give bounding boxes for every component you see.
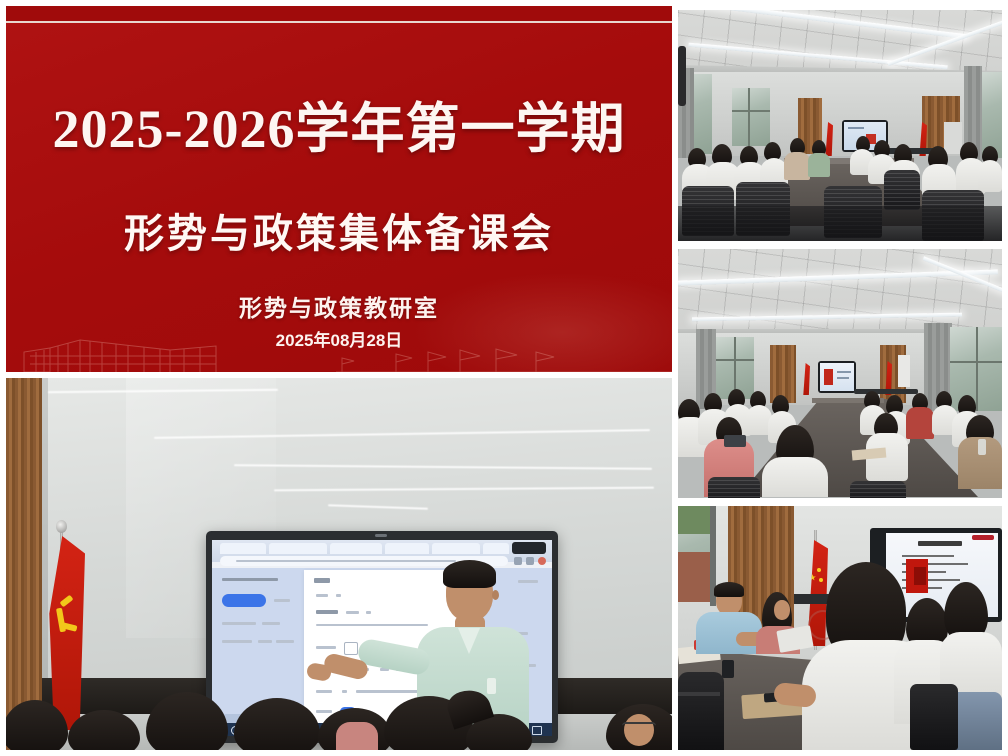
- office-chair: [850, 481, 906, 498]
- photo-conference-room-wide: [678, 10, 1002, 241]
- flag-star: [817, 568, 821, 572]
- wall-rail: [854, 389, 918, 394]
- right-window: [982, 72, 1002, 158]
- nav-text: [262, 622, 280, 625]
- screen-content: [820, 363, 854, 391]
- form-label: [316, 690, 332, 693]
- browser-toolbar-icon[interactable]: [538, 557, 546, 565]
- slide-logo: [972, 535, 994, 540]
- flag-finial: [56, 520, 67, 533]
- nav-primary-button[interactable]: [222, 594, 266, 607]
- photo-collage: 2025-2026学年第一学期 形势与政策集体备课会 形势与政策教研室 2025…: [0, 0, 1008, 756]
- slide-body: 2025-2026学年第一学期 形势与政策集体备课会 形势与政策教研室 2025…: [6, 23, 672, 372]
- browser-tab[interactable]: [220, 543, 266, 554]
- wood-pillar: [6, 378, 42, 750]
- browser-tab[interactable]: [269, 543, 327, 554]
- slide-title-text: [918, 541, 962, 546]
- audience-shoulder: [336, 722, 378, 750]
- phone: [722, 660, 734, 678]
- form-help-text: [316, 624, 428, 626]
- cabinet: [944, 122, 962, 154]
- display-camera: [375, 534, 387, 537]
- slide-bullet-text: [902, 555, 954, 557]
- slide-top-accent-bar: [6, 6, 672, 23]
- browser-toolbar-icon[interactable]: [514, 557, 522, 565]
- left-window: [732, 88, 770, 146]
- attendee-torso: [978, 160, 1002, 192]
- form-checkbox[interactable]: [344, 642, 358, 655]
- flag-star: [819, 578, 823, 582]
- screen-text: [837, 377, 849, 379]
- attendee-torso: [808, 153, 830, 177]
- nav-text: [222, 578, 278, 581]
- wall-notice: [898, 355, 910, 387]
- card-title: [314, 578, 330, 583]
- browser-tab[interactable]: [330, 543, 382, 554]
- form-label: [316, 610, 338, 614]
- presenter-hair: [443, 560, 496, 588]
- conference-room-wide-scene: [678, 10, 1002, 241]
- mic-stand: [678, 46, 686, 106]
- panel-text: [518, 580, 538, 583]
- slide-date: 2025年08月28日: [6, 326, 672, 351]
- browser-toolbar-icon[interactable]: [526, 557, 534, 565]
- form-label: [316, 710, 332, 713]
- presenter-badge: [487, 678, 496, 694]
- conference-room-rear-scene: [678, 249, 1002, 498]
- screen-text: [848, 127, 864, 129]
- attendee-face: [774, 600, 790, 620]
- attendee-hair: [714, 582, 744, 597]
- foreground-shadow: [678, 206, 1002, 241]
- photo-conference-room-rear: [678, 249, 1002, 498]
- form-value: [342, 690, 347, 693]
- form-label: [316, 594, 328, 597]
- window-mullion: [748, 88, 750, 146]
- nav-text: [274, 599, 290, 602]
- screen-graphic: [824, 369, 833, 385]
- nav-text: [222, 622, 256, 625]
- attendee-torso: [906, 407, 934, 439]
- attendees-closeup-scene: [678, 506, 1002, 750]
- presenter-scene: [6, 378, 672, 750]
- photo-presenter-at-display: [6, 378, 672, 750]
- audience-face: [624, 714, 654, 746]
- form-label: [316, 646, 336, 649]
- flag-emblem-part: [60, 595, 74, 608]
- form-value: [346, 611, 359, 614]
- taskbar-notification-icon[interactable]: [532, 726, 542, 735]
- window-building: [678, 552, 712, 602]
- presentation-screen: [818, 361, 856, 393]
- form-value: [366, 611, 371, 614]
- nav-text: [222, 640, 252, 643]
- slide-department: 形势与政策教研室: [6, 289, 672, 323]
- photo-attendees-closeup: [678, 506, 1002, 750]
- title-slide: 2025-2026学年第一学期 形势与政策集体备课会 形势与政策教研室 2025…: [6, 6, 672, 372]
- attendee-torso: [762, 457, 828, 497]
- browser-tab[interactable]: [385, 543, 429, 554]
- audience-glasses: [622, 722, 656, 730]
- window-mullion: [976, 327, 978, 411]
- attendee-torso: [784, 152, 810, 180]
- browser-chrome: [212, 540, 552, 562]
- browser-tab[interactable]: [483, 543, 509, 554]
- office-chair: [678, 672, 724, 750]
- slide-red-graphic-inner: [914, 567, 926, 585]
- url-text: [236, 560, 456, 562]
- office-chair: [884, 170, 920, 210]
- nav-text: [276, 640, 294, 643]
- slide-subtitle: 形势与政策集体备课会: [6, 201, 672, 259]
- browser-account-chip[interactable]: [512, 542, 546, 554]
- presenter-ear: [492, 590, 499, 600]
- slide-main-title: 2025-2026学年第一学期: [6, 101, 672, 158]
- window-foliage: [678, 506, 712, 534]
- screen-text: [837, 371, 851, 373]
- window-mullion: [732, 110, 770, 112]
- tablet-device: [724, 435, 746, 447]
- chair-armrest: [678, 692, 720, 696]
- wood-wall-panel: [770, 345, 796, 403]
- browser-tab[interactable]: [432, 543, 480, 554]
- office-chair: [910, 684, 958, 750]
- nav-text: [258, 640, 272, 643]
- water-bottle: [978, 439, 986, 455]
- office-chair: [708, 477, 760, 498]
- form-value: [336, 594, 341, 597]
